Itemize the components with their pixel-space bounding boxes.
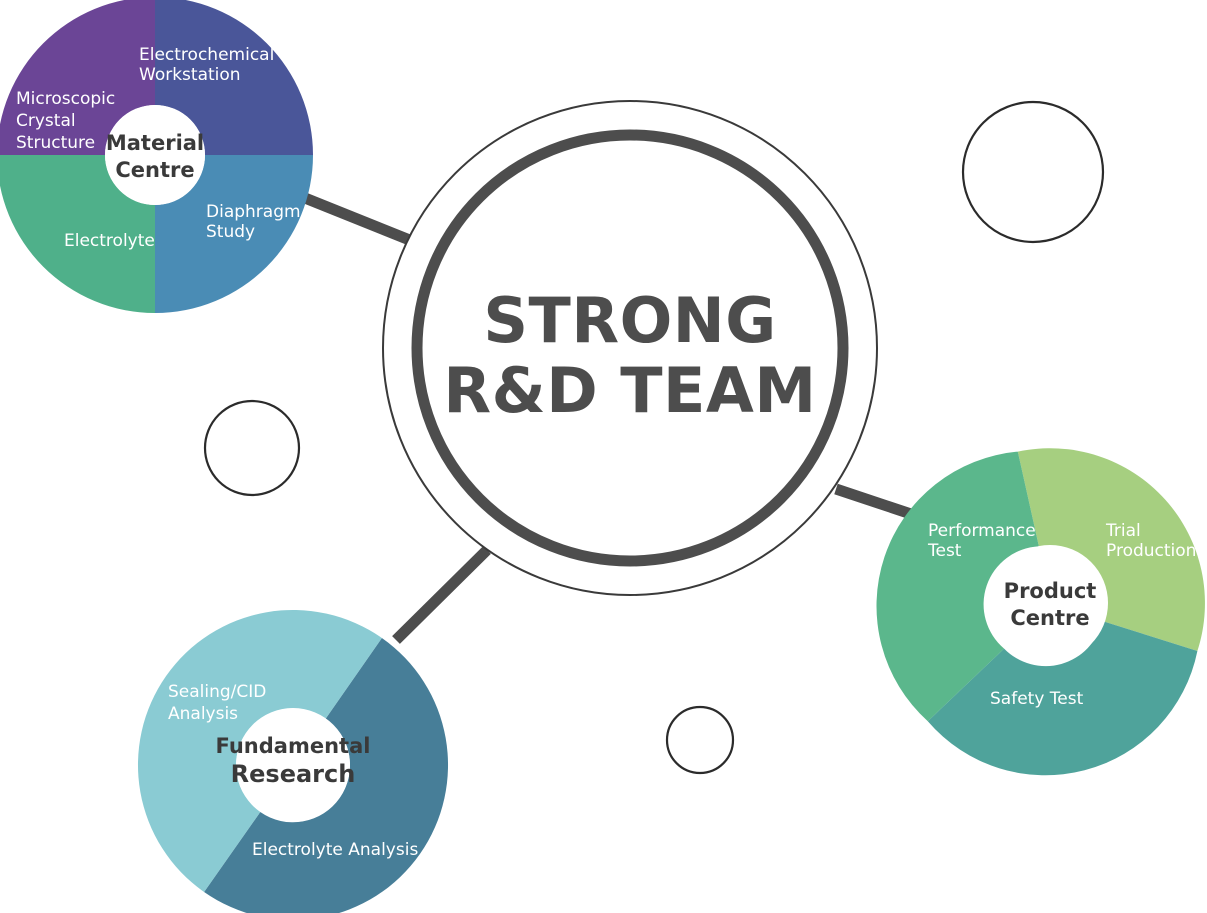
material-label-electrochemical-line1: Electrochemical (139, 45, 274, 65)
material-label-electrochemical-line2: Workstation (139, 65, 241, 85)
material-label-microscopic-line1: Microscopic (16, 89, 115, 109)
material-hub-line2: Centre (115, 158, 194, 182)
product-label-performance-line1: Performance (928, 521, 1036, 541)
fundamental-label-electrolyte-analysis: Electrolyte Analysis (252, 840, 418, 860)
material-hub-line1: Material (106, 131, 204, 155)
decorative-circle-bottom-center (667, 707, 733, 773)
fundamental-hub-line2: Research (231, 760, 356, 788)
fundamental-hub-line1: Fundamental (216, 734, 371, 758)
material-label-microscopic-line2: Crystal (16, 111, 76, 131)
connector-center-to-fundamental (396, 550, 487, 640)
center-title-line1: STRONG (483, 284, 776, 357)
fundamental-label-sealing-line1: Sealing/CID (168, 682, 266, 702)
material-label-diaphragm-line1: Diaphragm (206, 202, 301, 222)
product-label-trial-line2: Production (1106, 541, 1196, 561)
product-label-performance-line2: Test (927, 541, 962, 561)
material-label-microscopic-line3: Structure (16, 133, 95, 153)
center-hub[interactable]: STRONG R&D TEAM (383, 101, 877, 595)
product-label-safety-test: Safety Test (990, 689, 1084, 709)
diagram-canvas: STRONG R&D TEAM Electrochemical Workstat… (0, 0, 1207, 913)
donut-material-centre[interactable]: Electrochemical Workstation Diaphragm St… (0, 0, 313, 313)
material-label-diaphragm-line2: Study (206, 222, 255, 242)
product-centre-hub-circle (992, 545, 1108, 661)
donut-fundamental-research[interactable]: Electrolyte Analysis Sealing/CID Analysi… (138, 610, 448, 913)
material-centre-hub-circle (105, 105, 205, 205)
fundamental-label-sealing-line2: Analysis (168, 704, 238, 724)
product-label-trial-line1: Trial (1105, 521, 1141, 541)
center-title-line2: R&D TEAM (443, 354, 816, 427)
material-label-electrolyte: Electrolyte (64, 231, 155, 251)
decorative-circle-top-right (963, 102, 1103, 242)
product-hub-line2: Centre (1010, 606, 1089, 630)
decorative-circle-mid-left (205, 401, 299, 495)
product-hub-line1: Product (1004, 579, 1097, 603)
donut-product-centre[interactable]: Trial Production Safety Test Performance… (876, 448, 1204, 775)
